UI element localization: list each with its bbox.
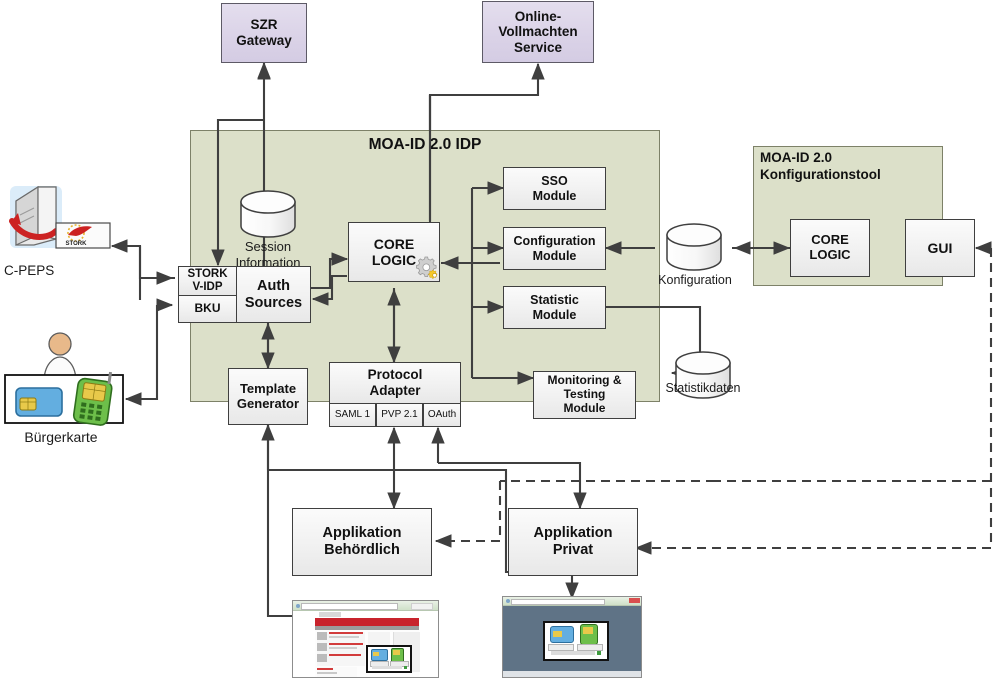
konfigurationstool-core-logic-box[interactable]: CORE LOGIC: [790, 219, 870, 277]
applikation-privat-box[interactable]: Applikation Privat: [508, 508, 638, 576]
template-generator-line1: Template: [234, 382, 302, 397]
session-information-cylinder: [237, 190, 299, 238]
protocol-adapter-box[interactable]: Protocol Adapter: [329, 362, 461, 404]
protocol-adapter-line1: Protocol: [365, 367, 426, 383]
vollmachten-line1: Online-: [495, 9, 580, 25]
auth-sources-line2: Sources: [242, 295, 305, 312]
idp-core-logic-line1: CORE: [369, 236, 419, 252]
konfiguration-cylinder: [663, 222, 725, 272]
bku-box[interactable]: BKU: [178, 295, 237, 323]
sso-module-line1: SSO: [530, 174, 580, 188]
screenshot-behoerdlich[interactable]: [292, 600, 439, 678]
konfiguration-label: Konfiguration: [640, 273, 750, 288]
online-vollmachten-service-box[interactable]: Online- Vollmachten Service: [482, 1, 594, 63]
monitoring-module-line3: Module: [545, 402, 625, 416]
konfigurationstool-gui-box[interactable]: GUI: [905, 219, 975, 277]
protocol-oauth-label: OAuth: [425, 409, 459, 421]
statistic-module-line1: Statistic: [527, 293, 582, 307]
vollmachten-line2: Vollmachten: [495, 24, 580, 40]
applikation-behoerdlich-box[interactable]: Applikation Behördlich: [292, 508, 432, 576]
applikation-behoerdlich-line1: Applikation: [320, 525, 405, 542]
configuration-module-box[interactable]: Configuration Module: [503, 227, 606, 270]
vollmachten-line3: Service: [495, 40, 580, 56]
monitoring-module-line1: Monitoring &: [545, 374, 625, 388]
gui-label: GUI: [925, 240, 956, 256]
auth-sources-line1: Auth: [242, 278, 305, 295]
cpeps-label: C-PEPS: [0, 263, 100, 279]
session-information-label-line1: Session: [216, 239, 320, 255]
sso-module-box[interactable]: SSO Module: [503, 167, 606, 210]
applikation-behoerdlich-line2: Behördlich: [320, 542, 405, 559]
stork-vidp-line2: V-IDP: [184, 281, 230, 294]
szr-gateway-line2: Gateway: [233, 33, 295, 49]
protocol-pvp21-box[interactable]: PVP 2.1: [376, 403, 423, 427]
auth-sources-box[interactable]: Auth Sources: [236, 266, 311, 323]
server-stork-icon: STORK: [4, 183, 114, 255]
configuration-module-line1: Configuration: [511, 234, 599, 248]
applikation-privat-line2: Privat: [531, 542, 616, 559]
configuration-module-line2: Module: [511, 249, 599, 263]
bku-label: BKU: [192, 302, 224, 316]
citizen-card-mobile-icon: [4, 330, 126, 430]
monitoring-module-line2: Testing: [545, 388, 625, 402]
gear-icon: [413, 254, 441, 281]
screenshot-privat[interactable]: [502, 596, 642, 678]
template-generator-box[interactable]: Template Generator: [228, 368, 308, 425]
template-generator-line2: Generator: [234, 397, 302, 412]
konfigurationstool-title-line2: Konfigurationstool: [760, 167, 940, 182]
buergerkarte-label: Bürgerkarte: [0, 429, 122, 446]
monitoring-testing-module-box[interactable]: Monitoring & Testing Module: [533, 371, 636, 419]
konfig-core-logic-line1: CORE: [806, 233, 853, 248]
svg-text:STORK: STORK: [66, 241, 88, 247]
szr-gateway-line1: SZR: [233, 17, 295, 33]
statistikdaten-label: Statistikdaten: [645, 381, 761, 396]
stork-vidp-line1: STORK: [184, 268, 230, 281]
protocol-oauth-box[interactable]: OAuth: [423, 403, 461, 427]
protocol-adapter-line2: Adapter: [365, 383, 426, 399]
protocol-saml1-label: SAML 1: [332, 409, 373, 421]
applikation-privat-line1: Applikation: [531, 525, 616, 542]
szr-gateway-box[interactable]: SZR Gateway: [221, 3, 307, 63]
sso-module-line2: Module: [530, 189, 580, 203]
stork-vidp-box[interactable]: STORK V-IDP: [178, 266, 237, 296]
statistic-module-box[interactable]: Statistic Module: [503, 286, 606, 329]
konfigurationstool-title-line1: MOA-ID 2.0: [760, 150, 940, 165]
protocol-saml1-box[interactable]: SAML 1: [329, 403, 376, 427]
architecture-diagram: MOA-ID 2.0 IDP MOA-ID 2.0 Konfigurations…: [0, 0, 1000, 678]
statistic-module-line2: Module: [527, 308, 582, 322]
konfig-core-logic-line2: LOGIC: [806, 248, 853, 263]
protocol-pvp21-label: PVP 2.1: [378, 409, 421, 421]
idp-zone-title: MOA-ID 2.0 IDP: [190, 136, 660, 154]
idp-core-logic-line2: LOGIC: [369, 252, 419, 268]
